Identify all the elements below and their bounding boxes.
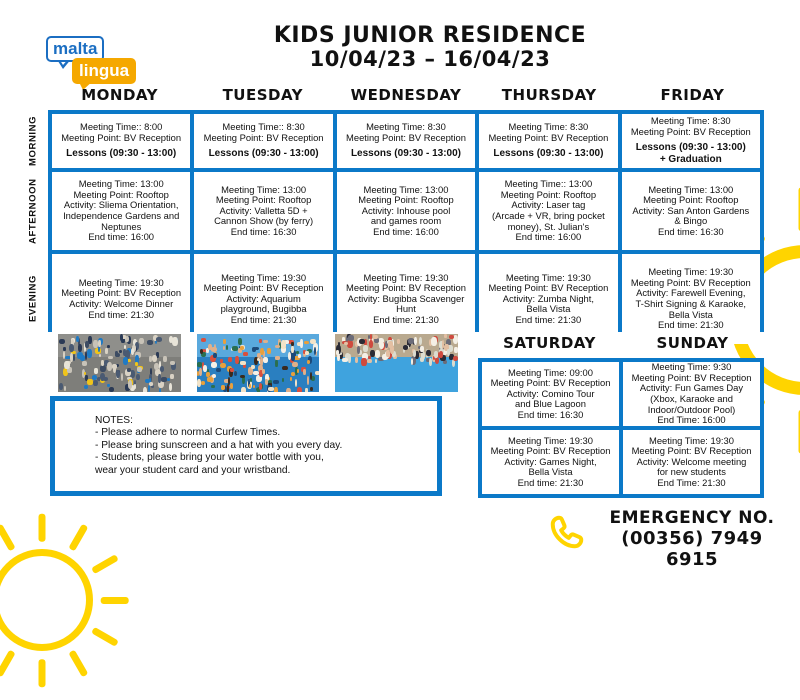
photo-detail	[63, 347, 66, 351]
photo-detail	[87, 349, 92, 357]
photo-detail	[145, 379, 150, 383]
photo-detail	[442, 340, 444, 349]
cell-line: Independence Gardens and	[63, 211, 179, 222]
row-label-evening: EVENING	[24, 254, 42, 344]
photo-detail	[275, 345, 280, 348]
photo-detail	[355, 357, 358, 363]
photo-detail	[426, 350, 431, 356]
page-title: KIDS JUNIOR RESIDENCE 10/04/23 – 16/04/2…	[250, 24, 610, 71]
cell-line: Meeting Point: BV Reception	[346, 133, 466, 144]
photo-detail	[342, 358, 348, 362]
schedule-cell-tuesday-morning[interactable]: Meeting Time:: 8:30Meeting Point: BV Rec…	[194, 114, 332, 168]
schedule-cell-wednesday-evening[interactable]: Meeting Time: 19:30Meeting Point: BV Rec…	[337, 254, 475, 344]
photo-detail	[161, 377, 167, 381]
photo-detail	[274, 387, 277, 392]
photo-detail	[241, 387, 246, 392]
sun-ray	[0, 649, 16, 677]
photo-strip	[58, 334, 458, 392]
cell-line: Meeting Point: BV Reception	[61, 133, 181, 144]
photo-detail	[447, 349, 450, 355]
cell-line: End time: 16:30	[658, 227, 724, 238]
photo-detail	[221, 385, 225, 390]
photo-detail	[70, 353, 73, 362]
cell-line-emphasis: Lessons (09:30 - 13:00)	[66, 148, 176, 160]
photo-detail	[82, 361, 87, 366]
photo-detail	[235, 356, 239, 363]
photo-detail	[230, 383, 233, 389]
photo-detail	[363, 345, 368, 352]
photo-detail	[420, 346, 424, 352]
schedule-cell-friday-afternoon[interactable]: Meeting Time: 13:00Meeting Point: Roofto…	[622, 172, 760, 250]
title-text: KIDS JUNIOR RESIDENCE	[250, 24, 610, 48]
notes-box: NOTES: - Please adhere to normal Curfew …	[50, 396, 442, 496]
emergency-contact: EMERGENCY NO. (00356) 7949 6915	[548, 508, 784, 560]
notes-item: - Please adhere to normal Curfew Times.	[95, 427, 342, 439]
schedule-cell-thursday-evening[interactable]: Meeting Time: 19:30Meeting Point: BV Rec…	[479, 254, 617, 344]
row-label-morning: MORNING	[24, 114, 42, 168]
photo-detail	[220, 363, 226, 369]
schedule-cell-wednesday-morning[interactable]: Meeting Time: 8:30Meeting Point: BV Rece…	[337, 114, 475, 168]
photo-detail	[197, 379, 201, 387]
photo-detail	[275, 356, 279, 360]
photo-detail	[69, 344, 74, 353]
cell-line: Activity: Welcome Dinner	[69, 299, 173, 310]
weekday-schedule-grid: Meeting Time:: 8:00Meeting Point: BV Rec…	[48, 110, 764, 332]
photo-detail	[275, 360, 278, 367]
cell-line: End Time: 16:00	[657, 415, 725, 426]
photo-detail	[149, 356, 152, 362]
weekend-schedule-grid: Meeting Time: 09:00Meeting Point: BV Rec…	[478, 358, 764, 498]
schedule-cell-monday-morning[interactable]: Meeting Time:: 8:00Meeting Point: BV Rec…	[52, 114, 190, 168]
photo-detail	[386, 350, 390, 357]
photo-detail	[310, 387, 313, 392]
photo-detail	[263, 357, 268, 363]
photo-detail	[370, 350, 374, 358]
day-header-thursday: THURSDAY	[478, 86, 621, 108]
photo-detail	[453, 356, 458, 361]
cell-line: End time: 21:30	[373, 315, 439, 326]
photo-detail	[172, 337, 178, 346]
photo-detail	[228, 357, 232, 362]
photo-detail	[100, 373, 105, 381]
photo-detail	[263, 340, 268, 343]
photo-detail	[77, 352, 83, 359]
photo-detail	[267, 348, 271, 353]
schedule-cell-sunday-evening[interactable]: Meeting Time: 19:30Meeting Point: BV Rec…	[623, 430, 760, 494]
photo-detail	[213, 353, 217, 359]
sun-ray	[68, 649, 88, 677]
photo-detail	[84, 372, 86, 375]
photo-detail	[197, 362, 202, 366]
photo-detail	[250, 378, 252, 381]
photo-detail	[300, 339, 303, 348]
photo-detail	[281, 340, 286, 349]
photo-detail	[99, 354, 101, 357]
cell-line: Meeting Point: BV Reception	[488, 133, 608, 144]
sun-decoration-left	[0, 500, 142, 700]
cell-line: End Time: 21:30	[657, 478, 725, 489]
photo-detail	[379, 341, 384, 349]
cell-line: End time: 21:30	[658, 320, 724, 331]
photo-detail	[253, 371, 259, 376]
photo-detail	[59, 383, 63, 390]
cell-line: T-Shirt Signing & Karaoke,	[636, 299, 746, 310]
weekend-header-row: SATURDAY SUNDAY	[478, 334, 764, 358]
photo-detail	[297, 387, 302, 392]
schedule-cell-saturday-day[interactable]: Meeting Time: 09:00Meeting Point: BV Rec…	[482, 362, 619, 426]
photo-detail	[169, 383, 172, 391]
photo-detail	[348, 335, 353, 340]
schedule-cell-tuesday-evening[interactable]: Meeting Time: 19:30Meeting Point: BV Rec…	[194, 254, 332, 344]
cell-line: Meeting Point: BV Reception	[631, 127, 751, 138]
photo-detail	[388, 341, 393, 347]
photo-detail	[431, 337, 437, 346]
photo-detail	[243, 352, 247, 356]
day-header-sunday: SUNDAY	[621, 334, 764, 358]
photo-detail	[454, 347, 457, 353]
photo-detail	[201, 381, 205, 386]
sun-ray	[91, 626, 119, 646]
photo-detail	[240, 375, 245, 379]
emergency-number: (00356) 7949 6915	[592, 528, 792, 570]
photo-detail	[307, 360, 310, 365]
photo-detail	[147, 340, 153, 344]
photo-detail	[413, 350, 416, 357]
photo-detail	[223, 339, 226, 344]
photo-detail	[305, 388, 307, 392]
photo-detail	[373, 335, 378, 340]
schedule-cell-monday-afternoon[interactable]: Meeting Time: 13:00Meeting Point: Roofto…	[52, 172, 190, 250]
photo-detail	[125, 336, 129, 343]
notes-item: - Students, please bring your water bott…	[95, 452, 342, 464]
cell-line: Meeting Point: BV Reception	[204, 133, 324, 144]
photo-detail	[359, 339, 365, 344]
sun-ray	[91, 554, 119, 574]
cell-line: End time: 16:30	[231, 227, 297, 238]
day-header-wednesday: WEDNESDAY	[334, 86, 477, 108]
schedule-cell-sunday-day[interactable]: Meeting Time: 9:30Meeting Point: BV Rece…	[623, 362, 760, 426]
day-header-saturday: SATURDAY	[478, 334, 621, 358]
photo-detail	[94, 368, 98, 374]
photo-detail	[286, 388, 290, 392]
day-header-tuesday: TUESDAY	[191, 86, 334, 108]
photo-detail	[203, 365, 207, 372]
schedule-cell-thursday-afternoon[interactable]: Meeting Time:: 13:00Meeting Point: Rooft…	[479, 172, 617, 250]
photo-detail	[307, 376, 309, 384]
sun-ray	[39, 659, 46, 687]
photo-detail	[207, 377, 212, 381]
photo-detail	[273, 380, 279, 384]
photo-detail	[257, 353, 261, 358]
photo-detail	[298, 354, 302, 357]
cell-line-emphasis: + Graduation	[660, 154, 722, 166]
day-header-friday: FRIDAY	[621, 86, 764, 108]
photo-detail	[414, 337, 417, 345]
photo-detail	[220, 359, 223, 363]
photo-detail	[156, 337, 162, 342]
weekday-header-row: MONDAY TUESDAY WEDNESDAY THURSDAY FRIDAY	[48, 86, 764, 108]
sun-ray	[101, 597, 129, 604]
cell-line: (Xbox, Karaoke and	[650, 394, 733, 405]
photo-detail	[148, 385, 150, 392]
photo-detail	[211, 362, 217, 368]
photo-detail	[170, 374, 173, 379]
photo-detail	[137, 367, 142, 372]
photo-detail	[123, 357, 128, 365]
photo-detail	[78, 344, 82, 352]
emergency-text: EMERGENCY NO. (00356) 7949 6915	[592, 508, 792, 570]
schedule-cell-monday-evening[interactable]: Meeting Time: 19:30Meeting Point: BV Rec…	[52, 254, 190, 344]
photo-detail	[232, 346, 238, 350]
day-header-monday: MONDAY	[48, 86, 191, 108]
row-label-afternoon: AFTERNOON	[24, 172, 42, 250]
photo-detail	[211, 385, 215, 389]
schedule-cell-thursday-morning[interactable]: Meeting Time: 8:30Meeting Point: BV Rece…	[479, 114, 617, 168]
photo-region	[335, 357, 458, 392]
cell-line: End time: 16:00	[373, 227, 439, 238]
photo-detail	[310, 339, 316, 344]
sun-ray	[0, 523, 16, 551]
photo-detail	[64, 361, 70, 369]
photo-detail	[240, 361, 245, 365]
photo-detail	[223, 346, 226, 349]
photo-detail	[208, 344, 212, 350]
sun-ray	[39, 513, 46, 541]
cell-line: End time: 16:00	[88, 232, 154, 243]
photo-detail	[199, 368, 202, 377]
schedule-cell-tuesday-afternoon[interactable]: Meeting Time: 13:00Meeting Point: Roofto…	[194, 172, 332, 250]
cell-line: End time: 21:30	[88, 310, 154, 321]
photo-detail	[434, 351, 438, 358]
photo-detail	[120, 334, 123, 341]
sun-core	[0, 549, 93, 651]
photo-detail	[98, 340, 100, 348]
photo-detail	[243, 364, 245, 367]
notes-heading: NOTES:	[95, 415, 342, 427]
photo-detail	[315, 371, 319, 375]
photo-detail	[251, 365, 255, 369]
photo-detail	[282, 378, 284, 382]
photo-detail	[109, 387, 114, 392]
photo-detail	[127, 368, 131, 371]
photo-detail	[361, 358, 366, 366]
cell-line: End time: 21:30	[516, 315, 582, 326]
sun-ray	[68, 523, 88, 551]
title-date-range: 10/04/23 – 16/04/23	[250, 48, 610, 71]
photo-detail	[429, 358, 432, 366]
photo-detail	[257, 358, 260, 361]
cell-line: End time: 16:00	[516, 232, 582, 243]
photo-detail	[163, 356, 167, 362]
photo-detail	[85, 341, 89, 348]
photo-detail	[128, 380, 133, 389]
photo-detail	[59, 339, 65, 344]
schedule-cell-friday-evening[interactable]: Meeting Time: 19:30Meeting Point: BV Rec…	[622, 254, 760, 344]
photo-detail	[93, 380, 98, 387]
photo-detail	[291, 346, 294, 354]
cell-line: End time: 21:30	[518, 478, 584, 489]
cell-line: End time: 21:30	[231, 315, 297, 326]
photo-detail	[143, 387, 147, 392]
photo-detail	[238, 338, 242, 345]
emergency-label: EMERGENCY NO.	[592, 508, 792, 528]
photo-group-poolside	[335, 334, 458, 392]
notes-content: NOTES: - Please adhere to normal Curfew …	[55, 415, 342, 477]
photo-detail	[87, 379, 92, 385]
notes-item: wear your student card and your wristban…	[95, 465, 342, 477]
photo-detail	[305, 351, 309, 355]
photo-detail	[291, 354, 295, 361]
photo-detail	[260, 357, 262, 366]
photo-detail	[403, 345, 409, 350]
photo-group-aerial	[58, 334, 181, 392]
schedule-cell-wednesday-afternoon[interactable]: Meeting Time: 13:00Meeting Point: Roofto…	[337, 172, 475, 250]
cell-line-emphasis: Lessons (09:30 - 13:00)	[493, 148, 603, 160]
photo-detail	[357, 346, 360, 353]
cell-line-emphasis: Lessons (09:30 - 13:00)	[351, 148, 461, 160]
photo-detail	[201, 338, 206, 342]
photo-detail	[116, 370, 120, 378]
cell-line-emphasis: Lessons (09:30 - 13:00)	[209, 148, 319, 160]
photo-group-boat-party	[197, 334, 320, 392]
phone-icon	[548, 512, 586, 552]
photo-detail	[375, 350, 380, 358]
cell-line: End time: 16:30	[518, 410, 584, 421]
cell-line-emphasis: Lessons (09:30 - 13:00)	[636, 142, 746, 154]
photo-detail	[139, 338, 143, 344]
logo-word-lingua: lingua	[72, 58, 136, 84]
schedule-cell-saturday-evening[interactable]: Meeting Time: 19:30Meeting Point: BV Rec…	[482, 430, 619, 494]
photo-detail	[136, 374, 140, 381]
photo-detail	[268, 387, 274, 391]
photo-detail	[347, 340, 352, 348]
maltalingua-logo: malta lingua	[46, 36, 150, 86]
photo-detail	[73, 354, 75, 361]
photo-detail	[262, 369, 265, 374]
notes-item: - Please bring sunscreen and a hat with …	[95, 440, 342, 452]
cell-line: (Arcade + VR, bring pocket	[492, 211, 605, 222]
schedule-cell-friday-morning[interactable]: Meeting Time: 8:30Meeting Point: BV Rece…	[622, 114, 760, 168]
